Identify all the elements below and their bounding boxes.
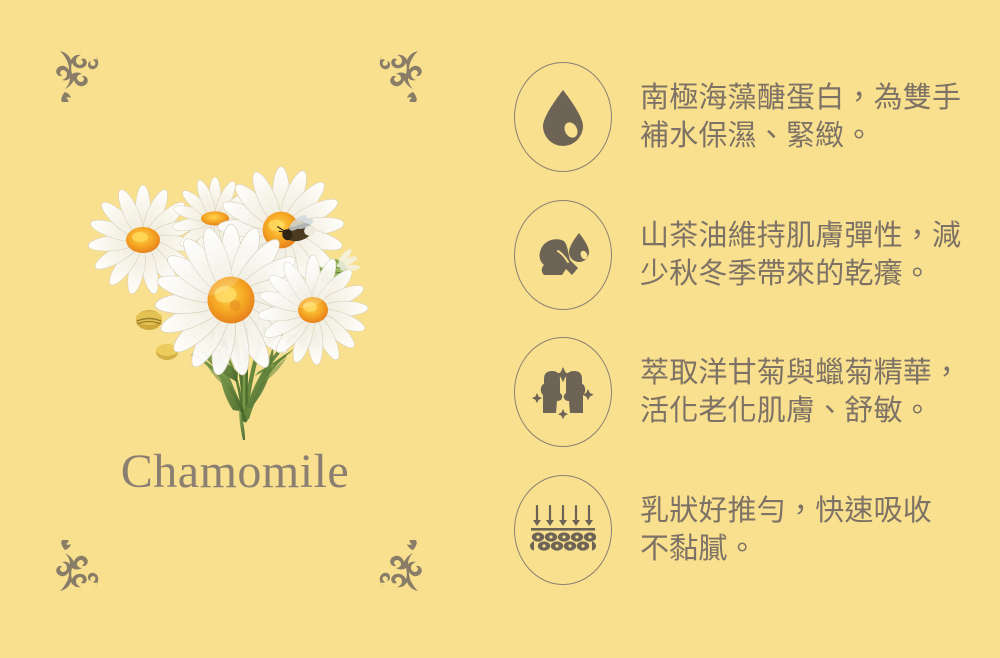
feature-text: 乳狀好推勻，快速吸收 不黏膩。 [640, 492, 1000, 568]
water-droplet-icon [514, 62, 612, 172]
corner-flourish-top-right-icon [372, 48, 426, 102]
feature-item: 山茶油維持肌膚彈性，減 少秋冬季帶來的乾癢。 [470, 193, 1000, 317]
two-hands-sparkle-icon [514, 337, 612, 447]
corner-flourish-bottom-left-icon [52, 540, 106, 594]
hand-with-droplet-icon [514, 200, 612, 310]
feature-text: 南極海藻醣蛋白，為雙手 補水保濕、緊緻。 [640, 79, 1000, 155]
feature-item: 萃取洋甘菊與蠟菊精華， 活化老化肌膚、舒敏。 [470, 330, 1000, 454]
feature-list: 南極海藻醣蛋白，為雙手 補水保濕、緊緻。 山茶油維持肌膚彈性，減 少秋冬季帶來的… [470, 0, 1000, 658]
feature-text: 山茶油維持肌膚彈性，減 少秋冬季帶來的乾癢。 [640, 217, 1000, 293]
botanical-name: Chamomile [0, 448, 470, 496]
corner-flourish-top-left-icon [52, 48, 106, 102]
left-illustration-panel: Chamomile [0, 0, 470, 658]
feature-item: 乳狀好推勻，快速吸收 不黏膩。 [470, 468, 1000, 592]
corner-flourish-bottom-right-icon [372, 540, 426, 594]
product-feature-poster: Chamomile 南極海藻醣蛋白，為雙手 補水保濕、緊緻。 [0, 0, 1000, 658]
chamomile-watercolor-illustration [85, 120, 405, 450]
absorption-arrows-icon [514, 475, 612, 585]
feature-text: 萃取洋甘菊與蠟菊精華， 活化老化肌膚、舒敏。 [640, 354, 1000, 430]
feature-item: 南極海藻醣蛋白，為雙手 補水保濕、緊緻。 [470, 55, 1000, 179]
